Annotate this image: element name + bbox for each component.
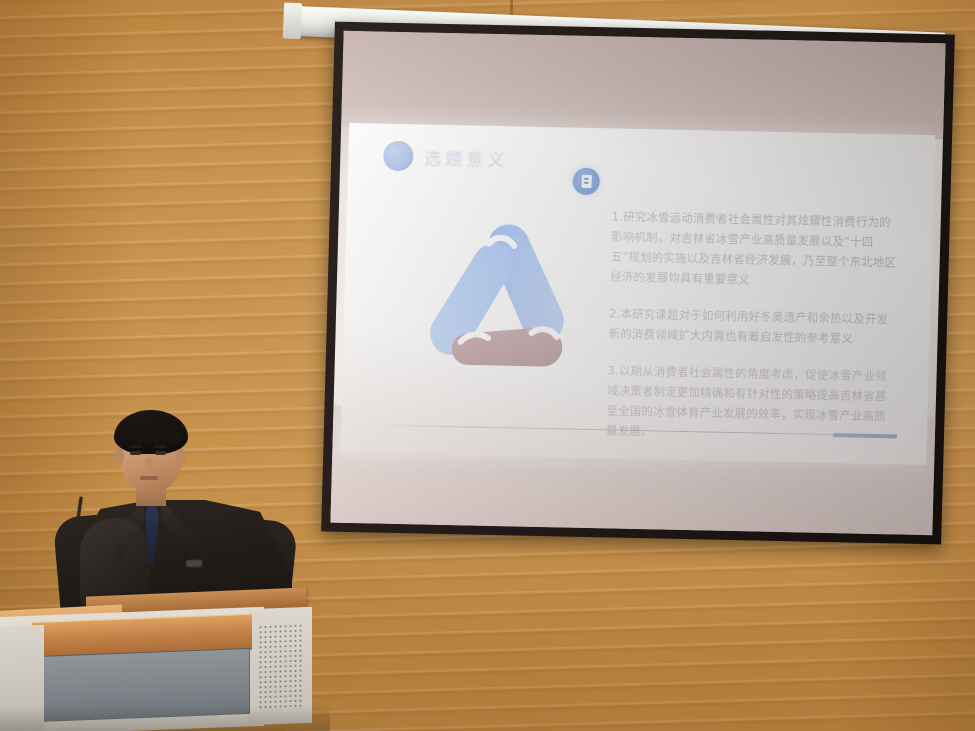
- floor-shadow: [0, 705, 330, 731]
- projector-screen-surface: 选题意义: [330, 31, 945, 535]
- slide-title: 选题意义: [424, 144, 509, 171]
- presenter-eye-right: [155, 451, 166, 455]
- presenter-mouth: [140, 476, 158, 480]
- screen-upper-dim-area: [341, 31, 945, 140]
- projected-slide: 选题意义: [340, 123, 935, 465]
- podium-speaker-grille: [258, 623, 302, 711]
- slide-title-row: 选题意义: [383, 141, 509, 174]
- presenter-hair: [114, 410, 188, 454]
- slide-paragraph-2: 2.本研究课题对于如何利用好冬奥遗产和余热以及开发新的消费领域扩大内需也有着启发…: [608, 303, 899, 349]
- presenter-eye-left: [130, 451, 141, 455]
- presenter-nose: [145, 458, 153, 470]
- slide-body-text: 1.研究冰雪运动消费者社会属性对其炫耀性消费行为的影响机制，对吉林省冰雪产业高质…: [605, 206, 902, 463]
- slide-paragraph-1: 1.研究冰雪运动消费者社会属性对其炫耀性消费行为的影响机制，对吉林省冰雪产业高质…: [610, 206, 902, 292]
- presenter-brow-left: [129, 445, 142, 448]
- jacket-chest-emblem: [186, 560, 202, 567]
- presenter-ear-right: [176, 448, 186, 465]
- presenter-ear-left: [114, 448, 124, 465]
- document-badge: [572, 168, 600, 196]
- presentation-room-photo: SCREEN 选题意义: [0, 0, 975, 731]
- presenter-brow-right: [154, 445, 167, 448]
- housing-end-cap: [283, 3, 302, 40]
- projector-screen-frame: 选题意义: [321, 22, 955, 545]
- document-icon: [581, 175, 591, 188]
- triangle-recycle-logo: [410, 202, 585, 380]
- title-bullet-circle-icon: [383, 141, 414, 172]
